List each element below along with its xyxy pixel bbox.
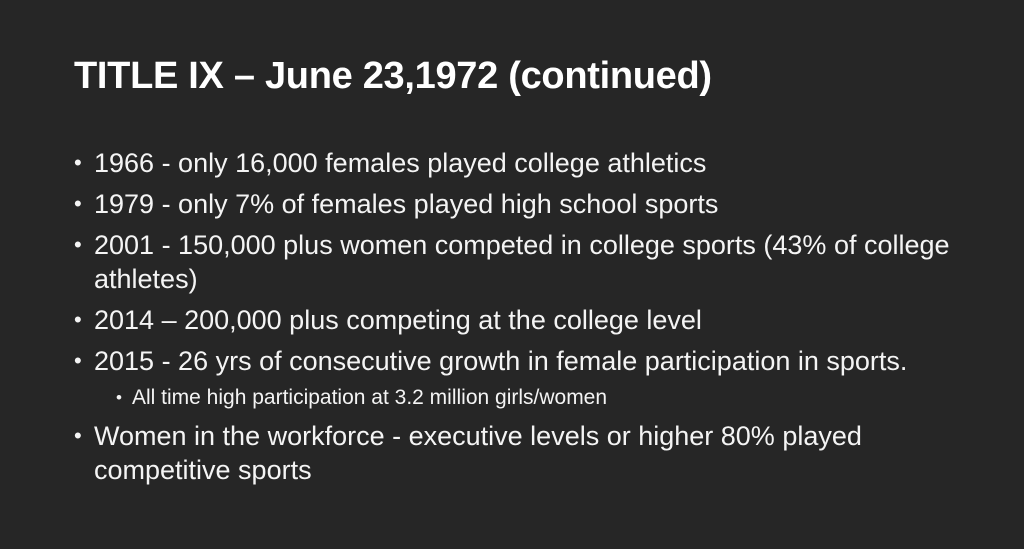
list-item[interactable]: • 2014 – 200,000 plus competing at the c… xyxy=(74,303,964,337)
sub-bullet-marker-icon: • xyxy=(116,385,132,411)
list-item-text: Women in the workforce - executive level… xyxy=(94,419,964,487)
bullet-marker-icon: • xyxy=(74,419,94,453)
presentation-slide: TITLE IX – June 23,1972 (continued) • 19… xyxy=(0,0,1024,549)
list-item[interactable]: • 1979 - only 7% of females played high … xyxy=(74,187,964,221)
slide-body-bullet-list: • 1966 - only 16,000 females played coll… xyxy=(74,146,964,494)
bullet-marker-icon: • xyxy=(74,187,94,221)
list-item-text: 2015 - 26 yrs of consecutive growth in f… xyxy=(94,344,964,378)
sub-list-item[interactable]: • All time high participation at 3.2 mil… xyxy=(74,385,964,411)
page-title: TITLE IX – June 23,1972 (continued) xyxy=(74,54,954,99)
bullet-marker-icon: • xyxy=(74,228,94,262)
sub-list-item-text: All time high participation at 3.2 milli… xyxy=(132,385,964,411)
list-item-text: 1966 - only 16,000 females played colleg… xyxy=(94,146,964,180)
bullet-marker-icon: • xyxy=(74,146,94,180)
list-item[interactable]: • 2001 - 150,000 plus women competed in … xyxy=(74,228,964,296)
list-item-text: 2014 – 200,000 plus competing at the col… xyxy=(94,303,964,337)
list-item[interactable]: • 1966 - only 16,000 females played coll… xyxy=(74,146,964,180)
list-item-text: 1979 - only 7% of females played high sc… xyxy=(94,187,964,221)
list-item[interactable]: • Women in the workforce - executive lev… xyxy=(74,419,964,487)
bullet-marker-icon: • xyxy=(74,303,94,337)
list-item[interactable]: • 2015 - 26 yrs of consecutive growth in… xyxy=(74,344,964,378)
list-item-text: 2001 - 150,000 plus women competed in co… xyxy=(94,228,964,296)
bullet-marker-icon: • xyxy=(74,344,94,378)
